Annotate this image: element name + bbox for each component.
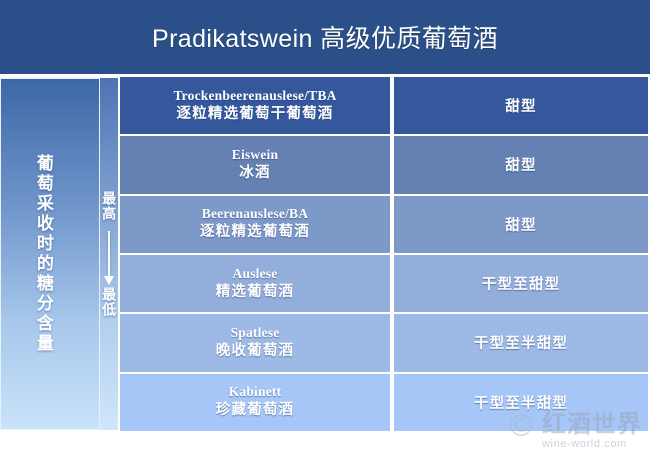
table-row: Kabinett珍藏葡萄酒干型至半甜型: [118, 373, 650, 432]
cell-wine-name: Beerenauslese/BA逐粒精选葡萄酒: [118, 195, 392, 254]
sweetness-style-label: 甜型: [505, 95, 536, 116]
cell-sweetness-style: 干型至甜型: [392, 254, 650, 313]
sweetness-style-label: 干型至半甜型: [474, 332, 568, 353]
wine-name-german: Auslese: [233, 266, 278, 283]
page-title: Pradikatswein 高级优质葡萄酒: [152, 19, 498, 55]
table-row: Auslese精选葡萄酒干型至甜型: [118, 254, 650, 313]
wine-name-german: Kabinett: [229, 384, 282, 401]
sweetness-style-label: 干型至甜型: [482, 273, 561, 294]
cell-sweetness-style: 干型至半甜型: [392, 313, 650, 372]
table-row: Trockenbeerenauslese/TBA逐粒精选葡萄干葡萄酒甜型: [118, 76, 650, 135]
cell-sweetness-style: 甜型: [392, 135, 650, 194]
scale-high-label: 最高: [102, 191, 116, 221]
table-row: Eiswein冰酒甜型: [118, 135, 650, 194]
wine-name-chinese: 冰酒: [239, 164, 270, 183]
scale-low-label: 最低: [102, 287, 116, 317]
slide-root: Pradikatswein 高级优质葡萄酒 葡萄采收时的糖分含量 最高 最低 T…: [0, 0, 650, 458]
sugar-content-label: 葡萄采收时的糖分含量: [34, 154, 52, 354]
classification-table: 葡萄采收时的糖分含量 最高 最低 Trockenbeerenauslese/TB…: [0, 74, 650, 432]
cell-wine-name: Kabinett珍藏葡萄酒: [118, 373, 392, 432]
cell-sweetness-style: 甜型: [392, 195, 650, 254]
table-body: Trockenbeerenauslese/TBA逐粒精选葡萄干葡萄酒甜型Eisw…: [118, 74, 650, 432]
cell-wine-name: Auslese精选葡萄酒: [118, 254, 392, 313]
sweetness-style-label: 甜型: [505, 214, 536, 235]
wine-name-chinese: 逐粒精选葡萄酒: [200, 223, 310, 242]
sweetness-style-label: 干型至半甜型: [474, 392, 568, 413]
wine-name-german: Spatlese: [231, 325, 280, 342]
cell-sweetness-style: 甜型: [392, 76, 650, 135]
wine-name-chinese: 珍藏葡萄酒: [216, 401, 295, 420]
wine-name-german: Eiswein: [232, 147, 278, 164]
wine-name-chinese: 晚收葡萄酒: [216, 342, 295, 361]
scale-arrow-column: 最高 最低: [100, 78, 118, 430]
sugar-content-column: 葡萄采收时的糖分含量: [0, 78, 100, 430]
slide-header: Pradikatswein 高级优质葡萄酒: [0, 0, 650, 74]
cell-wine-name: Trockenbeerenauslese/TBA逐粒精选葡萄干葡萄酒: [118, 76, 392, 135]
cell-sweetness-style: 干型至半甜型: [392, 373, 650, 432]
table-row: Beerenauslese/BA逐粒精选葡萄酒甜型: [118, 195, 650, 254]
arrow-down-icon: [108, 231, 110, 277]
wine-name-chinese: 精选葡萄酒: [216, 283, 295, 302]
cell-wine-name: Eiswein冰酒: [118, 135, 392, 194]
table-row: Spatlese晚收葡萄酒干型至半甜型: [118, 313, 650, 372]
wine-name-german: Trockenbeerenauslese/TBA: [173, 88, 336, 105]
wine-name-chinese: 逐粒精选葡萄干葡萄酒: [177, 105, 334, 124]
watermark-site-url: wine-world.com: [542, 439, 642, 450]
cell-wine-name: Spatlese晚收葡萄酒: [118, 313, 392, 372]
wine-name-german: Beerenauslese/BA: [202, 206, 308, 223]
sweetness-style-label: 甜型: [505, 154, 536, 175]
